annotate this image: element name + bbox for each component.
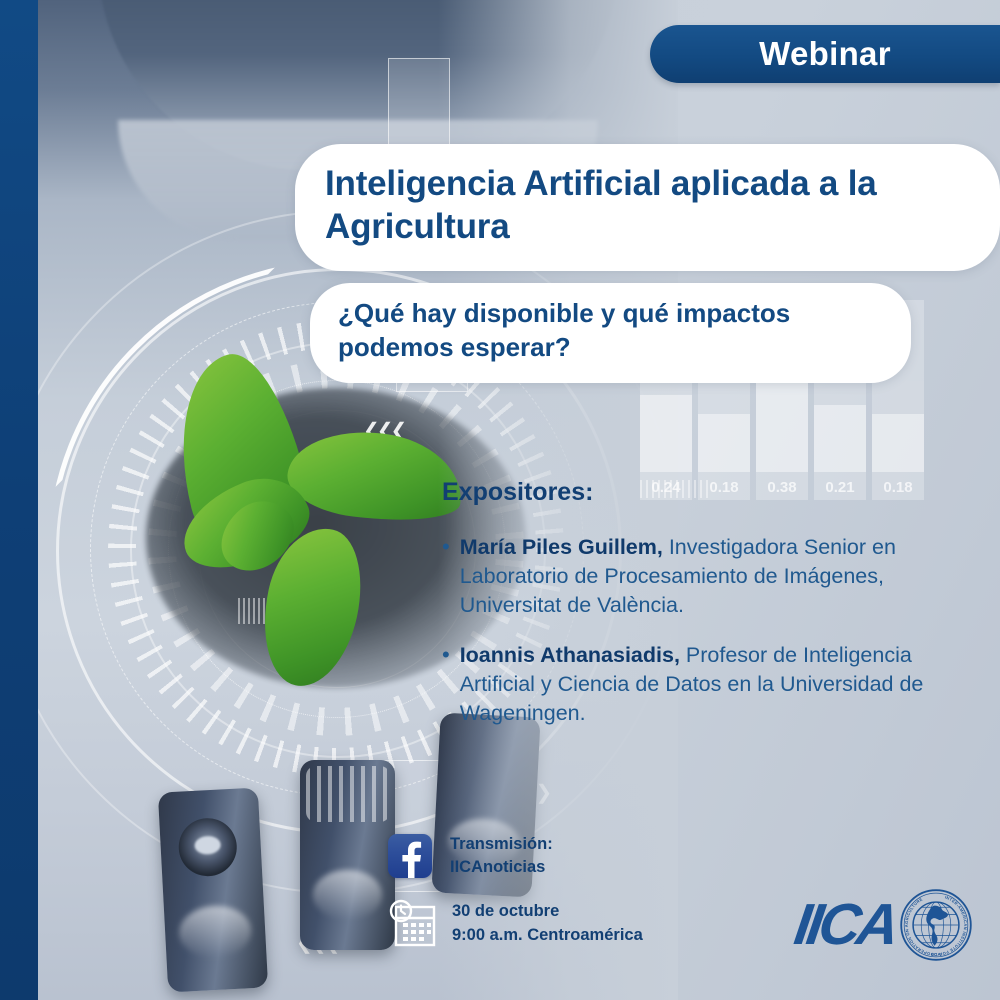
speaker-text: Ioannis Athanasiadis, Profesor de Inteli… — [460, 641, 952, 727]
background-bar-fill — [872, 414, 924, 472]
calendar-clock-icon — [388, 898, 440, 950]
robot-finger-2 — [300, 760, 395, 950]
background-bar-fill — [814, 405, 866, 472]
background-bar-fill — [640, 395, 692, 472]
robot-finger-highlight — [313, 870, 381, 919]
robot-finger-highlight — [178, 904, 253, 960]
robot-finger-1 — [158, 788, 268, 993]
webinar-poster: ❮❮❮ ❯❯❯ ❮❮❮ 0.240.180.380.210.18 Webinar — [0, 0, 1000, 1000]
broadcast-channel: IICAnoticias — [450, 856, 553, 879]
webinar-badge-label: Webinar — [759, 35, 891, 73]
robot-finger-ridges — [306, 766, 390, 822]
speakers-heading: Expositores: — [442, 478, 952, 507]
list-item: • María Piles Guillem, Investigadora Sen… — [442, 533, 952, 619]
facebook-icon[interactable] — [388, 834, 432, 878]
broadcast-label: Transmisión: — [450, 833, 553, 856]
page-subtitle-line2: podemos esperar? — [338, 331, 883, 365]
page-title-line1: Inteligencia Artificial aplicada a la — [325, 162, 970, 205]
leaf-2 — [283, 423, 467, 530]
list-item: • Ioannis Athanasiadis, Profesor de Inte… — [442, 641, 952, 727]
iica-seal-icon: INTER-AMERICAN INSTITUTE FOR COOPERATION… — [899, 888, 973, 962]
schedule-time: 9:00 a.m. Centroamérica — [452, 924, 643, 948]
schedule-text: 30 de octubre 9:00 a.m. Centroamérica — [452, 900, 643, 948]
speaker-name: Ioannis Athanasiadis, — [460, 643, 680, 667]
robot-finger-port — [177, 817, 238, 878]
left-accent-bar — [0, 0, 38, 1000]
seal-bottom-text: IICA — [931, 952, 941, 958]
broadcast-row: Transmisión: IICAnoticias — [388, 833, 553, 880]
iica-wordmark: IICA — [791, 896, 899, 954]
bullet-icon: • — [442, 533, 450, 619]
webinar-badge: Webinar — [650, 25, 1000, 83]
schedule-date: 30 de octubre — [452, 900, 643, 924]
page-subtitle-line1: ¿Qué hay disponible y qué impactos — [338, 297, 883, 331]
iica-logo: IICA INTER-AMERICAN INSTITUTE FOR COOPER — [795, 888, 973, 962]
bullet-icon: • — [442, 641, 450, 727]
speaker-name: María Piles Guillem, — [460, 535, 663, 559]
schedule-row: 30 de octubre 9:00 a.m. Centroamérica — [388, 898, 643, 950]
background-bar-fill — [698, 414, 750, 472]
chevron-icon-2: ❯❯❯ — [508, 780, 549, 805]
broadcast-text: Transmisión: IICAnoticias — [450, 833, 553, 880]
speaker-text: María Piles Guillem, Investigadora Senio… — [460, 533, 952, 619]
title-pill: Inteligencia Artificial aplicada a la Ag… — [295, 144, 1000, 271]
subtitle-pill: ¿Qué hay disponible y qué impactos podem… — [310, 283, 911, 383]
speakers-section: Expositores: • María Piles Guillem, Inve… — [442, 478, 952, 750]
page-title-line2: Agricultura — [325, 205, 970, 248]
